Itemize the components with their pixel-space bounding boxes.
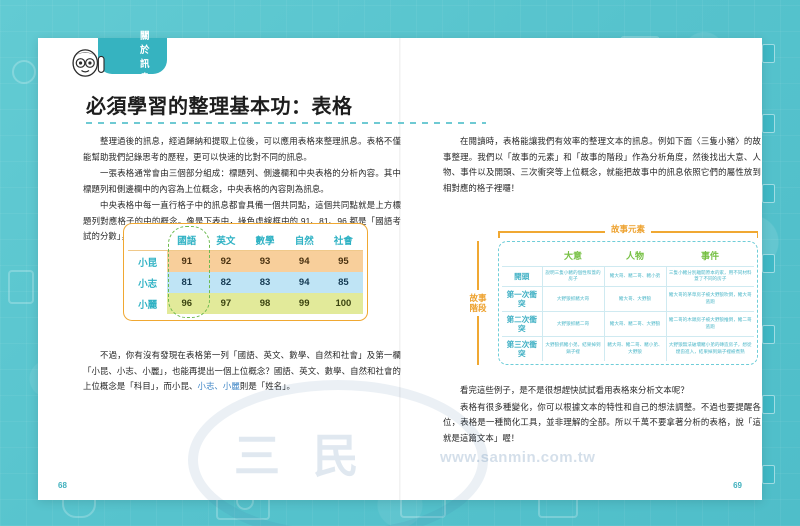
right-column-closing: 看完這些例子，是不是很想趕快試試看用表格來分析文本呢？ 表格有很多種變化，你可以…	[443, 383, 761, 447]
story-cell: 豬大哥、豬二哥、大野狼	[604, 311, 666, 336]
page-gutter	[399, 38, 401, 500]
story-top-label-group: 故事元素	[498, 223, 758, 239]
grade-cell: 97	[206, 293, 245, 314]
grade-cell: 96	[167, 293, 206, 314]
story-top-label: 故事元素	[605, 223, 651, 235]
grade-cell: 91	[167, 251, 206, 272]
story-side-bracket-top	[477, 241, 479, 290]
story-col-header: 事件	[666, 245, 754, 267]
section-badge: 關於訊息	[98, 38, 167, 74]
grade-table-box: 國語 英文 數學 自然 社會 小昆 91 92 93 94 95	[123, 223, 368, 321]
story-cell: 大野狼無法破壞豬小弟的磚造房子，想從煙囪進入，結果掉到鍋子裡被煮熟	[666, 336, 754, 361]
doodle-book	[8, 270, 34, 304]
section-badge-label: 關於訊息	[140, 28, 151, 84]
grade-corner-cell	[128, 229, 167, 251]
paragraph: 表格有很多種變化，你可以根據文本的特性和自己的想法調整。不過也要提醒各位，表格是…	[443, 400, 761, 447]
watermark-chinese: 三 民	[234, 420, 369, 486]
edge-tab[interactable]	[762, 44, 775, 63]
table-row: 開頭 說明三隻小豬的個性和蓋的房子 豬大哥、豬二哥、豬小弟 三隻小豬分別離開原本…	[502, 267, 754, 287]
right-column: 在閱讀時，表格能讓我們有效率的整理文本的訊息。例如下面〈三隻小豬〉的故事整理。我…	[443, 134, 761, 197]
grade-row-name: 小麗	[128, 293, 167, 314]
grade-cell: 99	[285, 293, 324, 314]
grade-cell: 82	[206, 272, 245, 293]
story-cell: 豬大哥、大野狼	[604, 286, 666, 311]
table-row: 第一次衝突 大野狼抓豬大哥 豬大哥、大野狼 豬大哥的茅草房子被大野狼吹倒，豬大哥…	[502, 286, 754, 311]
page-number-left: 68	[58, 481, 67, 490]
grade-cell: 93	[245, 251, 284, 272]
paragraph: 在閱讀時，表格能讓我們有效率的整理文本的訊息。例如下面〈三隻小豬〉的故事整理。我…	[443, 134, 761, 196]
table-row: 小志 81 82 83 94 85	[128, 272, 363, 293]
grade-row-name: 小昆	[128, 251, 167, 272]
edge-tab[interactable]	[762, 254, 775, 273]
story-stage-label: 開頭	[502, 267, 542, 287]
grade-col-header: 自然	[285, 229, 324, 251]
table-row: 小麗 96 97 98 99 100	[128, 293, 363, 314]
edge-tab[interactable]	[762, 325, 775, 344]
grade-col-header: 英文	[206, 229, 245, 251]
book-page: 關於訊息 必須學習的整理基本功：表格 整理過後的訊息，經過歸納和提取上位後，可以…	[38, 38, 762, 500]
story-cell: 豬大哥、豬二哥、豬小弟、大野狼	[604, 336, 666, 361]
page-title: 必須學習的整理基本功：表格	[86, 90, 353, 119]
page-number-right: 69	[733, 481, 742, 490]
doodle-dot	[12, 60, 36, 84]
table-row: 第三次衝突 大野狼抓豬小弟，結果掉到鍋子裡 豬大哥、豬二哥、豬小弟、大野狼 大野…	[502, 336, 754, 361]
story-cell: 三隻小豬分別離開原本的家，用不同材料蓋了不同的房子	[666, 267, 754, 287]
story-cell: 說明三隻小豬的個性和蓋的房子	[542, 267, 604, 287]
table-header-row: 大意 人物 事件	[502, 245, 754, 267]
paragraph: 不過，你有沒有發現在表格第一列「國語、英文、數學、自然和社會」及第一欄「小昆、小…	[83, 348, 401, 395]
table-header-row: 國語 英文 數學 自然 社會	[128, 229, 363, 251]
grade-cell: 100	[324, 293, 363, 314]
paragraph-highlight: 小志、小麗	[197, 381, 239, 391]
grade-table-wrapper: 國語 英文 數學 自然 社會 小昆 91 92 93 94 95	[123, 223, 368, 321]
paragraph-part: 則是「姓名」。	[240, 381, 295, 391]
grade-cell: 98	[245, 293, 284, 314]
story-table: 大意 人物 事件 開頭 說明三隻小豬的個性和蓋的房子 豬大哥、豬二哥、豬小弟 三…	[502, 245, 754, 361]
table-row: 第二次衝突 大野狼抓豬二哥 豬大哥、豬二哥、大野狼 豬二哥的木頭房子被大野狼推倒…	[502, 311, 754, 336]
grade-cell: 85	[324, 272, 363, 293]
grade-cell: 83	[245, 272, 284, 293]
grade-cell: 92	[206, 251, 245, 272]
story-stage-label: 第一次衝突	[502, 286, 542, 311]
story-side-bracket-bottom	[477, 316, 479, 365]
mascot-face-icon	[70, 48, 108, 78]
edge-tab[interactable]	[762, 395, 775, 414]
story-table-box: 大意 人物 事件 開頭 說明三隻小豬的個性和蓋的房子 豬大哥、豬二哥、豬小弟 三…	[498, 241, 758, 365]
story-corner-cell	[502, 245, 542, 267]
story-cell: 豬大哥、豬二哥、豬小弟	[604, 267, 666, 287]
story-cell: 大野狼抓豬大哥	[542, 286, 604, 311]
grade-cell: 95	[324, 251, 363, 272]
edge-tab[interactable]	[762, 465, 775, 484]
edge-tab[interactable]	[762, 114, 775, 133]
story-col-header: 大意	[542, 245, 604, 267]
story-table-body: 故事階段 大意 人物 事件 開頭	[458, 241, 758, 365]
story-stage-label: 第二次衝突	[502, 311, 542, 336]
paragraph: 整理過後的訊息，經過歸納和提取上位後，可以應用表格來整理訊息。表格不僅能幫助我們…	[83, 134, 401, 165]
story-col-header: 人物	[604, 245, 666, 267]
left-column-continued: 不過，你有沒有發現在表格第一列「國語、英文、數學、自然和社會」及第一欄「小昆、小…	[83, 348, 401, 396]
grade-col-header: 數學	[245, 229, 284, 251]
grade-table: 國語 英文 數學 自然 社會 小昆 91 92 93 94 95	[128, 229, 363, 314]
grade-cell: 81	[167, 272, 206, 293]
grade-cell: 94	[285, 272, 324, 293]
story-cell: 大野狼抓豬二哥	[542, 311, 604, 336]
story-side-label-group: 故事階段	[458, 241, 498, 365]
grade-cell: 94	[285, 251, 324, 272]
edge-tab-strip	[762, 44, 776, 484]
story-cell: 大野狼抓豬小弟，結果掉到鍋子裡	[542, 336, 604, 361]
paragraph: 看完這些例子，是不是很想趕快試試看用表格來分析文本呢？	[443, 383, 761, 399]
table-row: 小昆 91 92 93 94 95	[128, 251, 363, 272]
grade-col-header: 國語	[167, 229, 206, 251]
story-cell: 豬大哥的茅草房子被大野狼吹倒，豬大哥逃跑	[666, 286, 754, 311]
edge-tab[interactable]	[762, 184, 775, 203]
grade-row-name: 小志	[128, 272, 167, 293]
grade-col-header: 社會	[324, 229, 363, 251]
story-cell: 豬二哥的木頭房子被大野狼推倒，豬二哥逃跑	[666, 311, 754, 336]
story-side-label: 故事階段	[469, 290, 487, 316]
watermark-url: www.sanmin.com.tw	[440, 449, 595, 466]
story-table-wrapper: 故事元素 故事階段 大意 人物 事件	[458, 223, 758, 365]
paragraph: 一張表格通常會由三個部分組成：標題列、側邊欄和中央表格的分析內容。其中標題列和側…	[83, 166, 401, 197]
title-divider	[86, 122, 486, 124]
story-stage-label: 第三次衝突	[502, 336, 542, 361]
